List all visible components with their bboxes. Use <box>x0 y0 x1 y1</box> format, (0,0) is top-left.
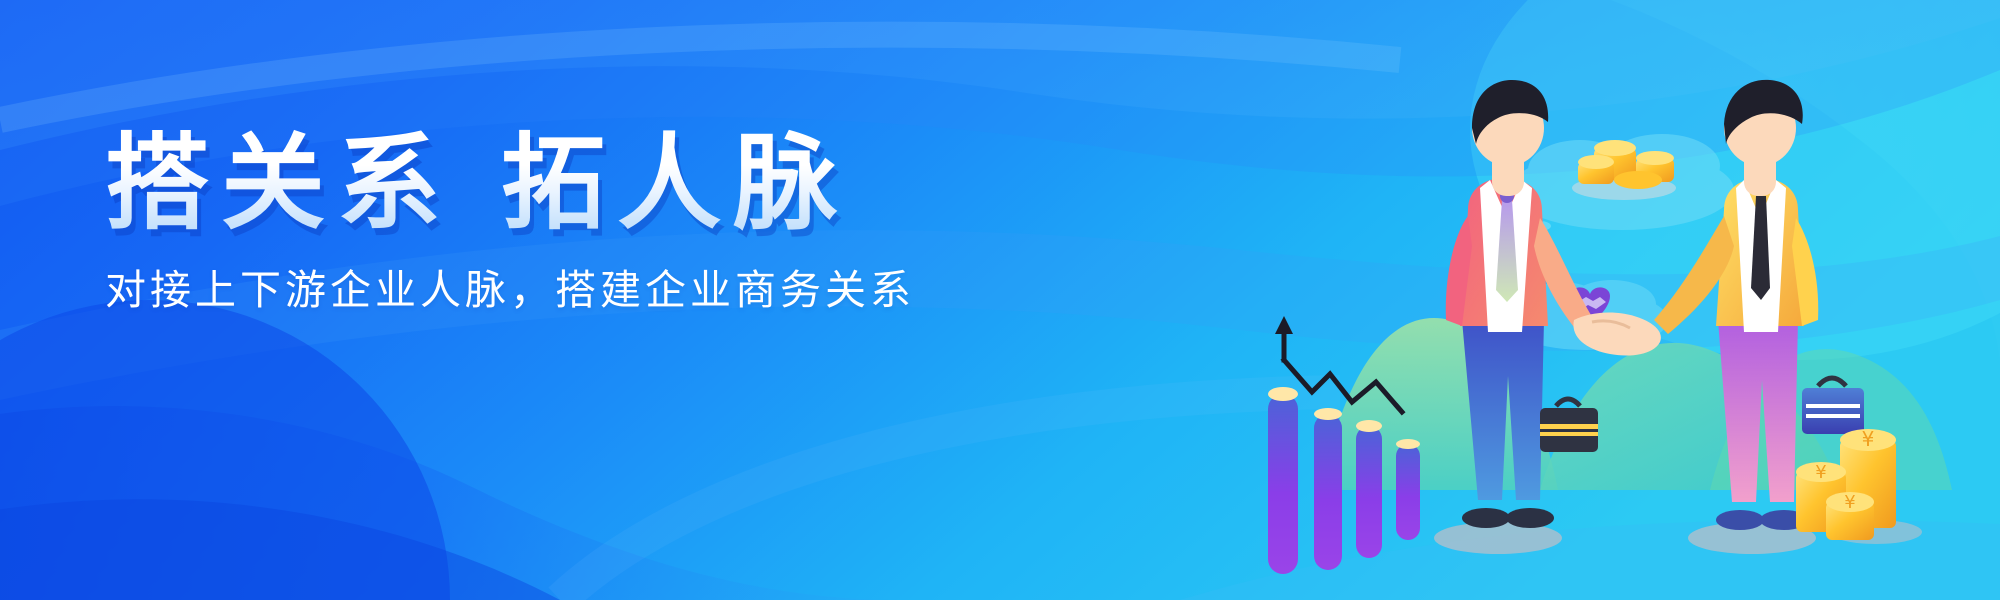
banner-subheadline: 对接上下游企业人脉，搭建企业商务关系 <box>105 256 985 316</box>
svg-text:¥: ¥ <box>1815 462 1826 483</box>
banner-copy: 搭关系 拓人脉 对接上下游企业人脉，搭建企业商务关系 <box>105 128 985 316</box>
svg-text:¥: ¥ <box>1844 492 1855 513</box>
handshake-illustration: ¥ ¥ ¥ <box>1240 20 2000 600</box>
banner-headline: 搭关系 拓人脉 <box>105 128 985 238</box>
promo-banner: 搭关系 拓人脉 对接上下游企业人脉，搭建企业商务关系 <box>0 0 2000 600</box>
svg-text:¥: ¥ <box>1862 427 1875 451</box>
